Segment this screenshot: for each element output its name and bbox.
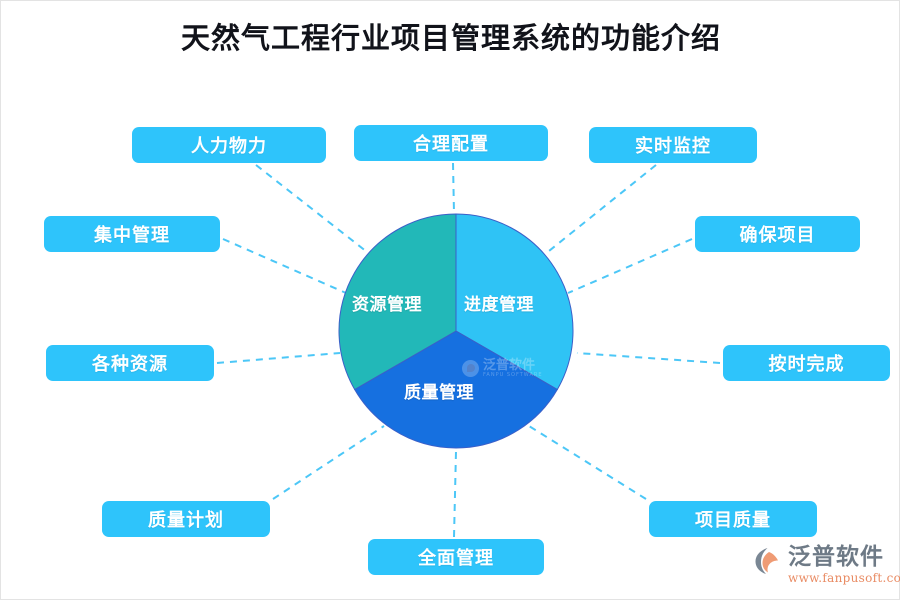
callout-chip-label: 集中管理 — [94, 221, 170, 247]
pie-slice-label-resource: 资源管理 — [352, 290, 422, 315]
callout-chip-shishi-jiankong[interactable]: 实时监控 — [589, 127, 757, 163]
callout-chip-label: 质量计划 — [148, 506, 224, 532]
pie-chart: 资源管理 进度管理 质量管理 泛普软件 FANPU SOFTWARE — [338, 213, 574, 449]
callout-chip-zhiliang-jihua[interactable]: 质量计划 — [102, 501, 270, 537]
callout-chip-label: 各种资源 — [92, 350, 168, 376]
page-title: 天然气工程行业项目管理系统的功能介绍 — [1, 15, 900, 57]
pie-watermark: 泛普软件 FANPU SOFTWARE — [462, 359, 543, 378]
pie-chart-svg — [338, 213, 574, 449]
pie-slice-label-quality: 质量管理 — [404, 378, 474, 403]
watermark-name: 泛普软件 — [483, 359, 543, 372]
callout-chip-anshi-wancheng[interactable]: 按时完成 — [723, 345, 890, 381]
callout-chip-gezhong-ziyuan[interactable]: 各种资源 — [46, 345, 214, 381]
callout-chip-label: 确保项目 — [740, 221, 816, 247]
callout-chip-renli-wuli[interactable]: 人力物力 — [132, 127, 326, 163]
connector-quebao-xiangmu — [568, 239, 692, 293]
brand-logo: 泛普软件 www.fanpusoft.com — [753, 544, 900, 584]
connector-gezhong-ziyuan — [217, 353, 340, 363]
callout-chip-label: 实时监控 — [635, 132, 711, 158]
callout-chip-quebao-xiangmu[interactable]: 确保项目 — [695, 216, 860, 252]
brand-name: 泛普软件 — [788, 546, 900, 569]
callout-chip-label: 项目质量 — [695, 506, 771, 532]
watermark-subtitle: FANPU SOFTWARE — [483, 373, 543, 378]
connector-jizhong-guanli — [223, 239, 346, 293]
infographic-canvas: 天然气工程行业项目管理系统的功能介绍 资源管理 进度管理 质量管理 泛普软件 F… — [0, 0, 900, 600]
callout-chip-quanmian-guanli[interactable]: 全面管理 — [368, 539, 544, 575]
callout-chip-xiangmu-zhiliang[interactable]: 项目质量 — [649, 501, 817, 537]
callout-chip-label: 人力物力 — [191, 132, 267, 158]
connector-anshi-wancheng — [577, 353, 720, 363]
callout-chip-heli-peizhi[interactable]: 合理配置 — [354, 125, 548, 161]
callout-chip-label: 全面管理 — [418, 544, 494, 570]
fanpu-logo-icon — [753, 546, 783, 576]
brand-url: www.fanpusoft.com — [788, 572, 900, 584]
watermark-text: 泛普软件 FANPU SOFTWARE — [483, 359, 543, 378]
connector-quanmian-guanli — [454, 451, 456, 537]
connector-heli-peizhi — [453, 163, 454, 213]
callout-chip-jizhong-guanli[interactable]: 集中管理 — [44, 216, 220, 252]
callout-chip-label: 按时完成 — [769, 350, 845, 376]
pie-slice-label-progress: 进度管理 — [464, 290, 534, 315]
callout-chip-label: 合理配置 — [413, 130, 489, 156]
brand-text: 泛普软件 www.fanpusoft.com — [788, 544, 900, 584]
watermark-logo-icon — [462, 360, 479, 377]
